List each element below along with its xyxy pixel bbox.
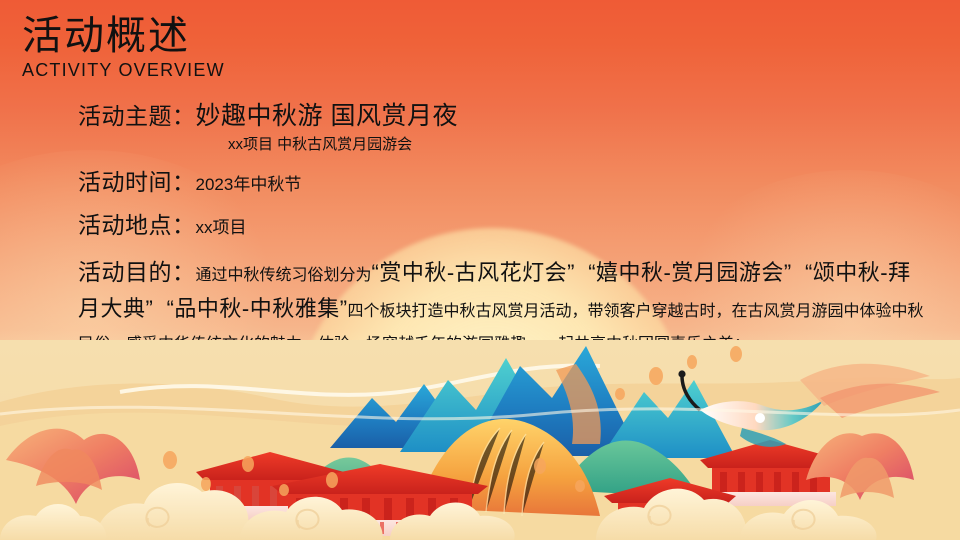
theme-subtitle: xx项目 中秋古风赏月园游会 bbox=[228, 132, 928, 158]
page-title-cn: 活动概述 bbox=[22, 14, 225, 58]
place-value: xx项目 bbox=[196, 218, 247, 237]
theme-label: 活动主题： bbox=[78, 103, 196, 129]
chinese-landscape-illustration bbox=[0, 340, 960, 540]
purpose-module-spacer-2 bbox=[792, 260, 805, 285]
page-title-en: ACTIVITY OVERVIEW bbox=[22, 59, 225, 81]
page-title: 活动概述 ACTIVITY OVERVIEW bbox=[22, 14, 225, 81]
field-place: 活动地点：xx项目 bbox=[78, 205, 928, 248]
overview-content: 活动主题：妙趣中秋游 国风赏月夜 xx项目 中秋古风赏月园游会 活动时间：202… bbox=[78, 96, 928, 361]
purpose-module-spacer-1 bbox=[575, 260, 588, 285]
time-value: 2023年中秋节 bbox=[196, 175, 302, 194]
purpose-module-4: “品中秋-中秋雅集” bbox=[167, 296, 348, 321]
purpose-intro: 通过中秋传统习俗划分为 bbox=[196, 267, 372, 284]
purpose-module-2: “嬉中秋-赏月园游会” bbox=[588, 260, 791, 285]
slide-root: 活动概述 ACTIVITY OVERVIEW 活动主题：妙趣中秋游 国风赏月夜 … bbox=[0, 0, 960, 540]
purpose-label: 活动目的： bbox=[78, 259, 196, 285]
place-label: 活动地点： bbox=[78, 212, 196, 238]
theme-value: 妙趣中秋游 国风赏月夜 bbox=[196, 102, 458, 130]
field-theme: 活动主题：妙趣中秋游 国风赏月夜 bbox=[78, 96, 928, 136]
purpose-module-spacer-3 bbox=[153, 296, 166, 321]
time-label: 活动时间： bbox=[78, 169, 196, 195]
purpose-module-1: “赏中秋-古风花灯会” bbox=[372, 260, 575, 285]
field-time: 活动时间：2023年中秋节 bbox=[78, 162, 928, 205]
